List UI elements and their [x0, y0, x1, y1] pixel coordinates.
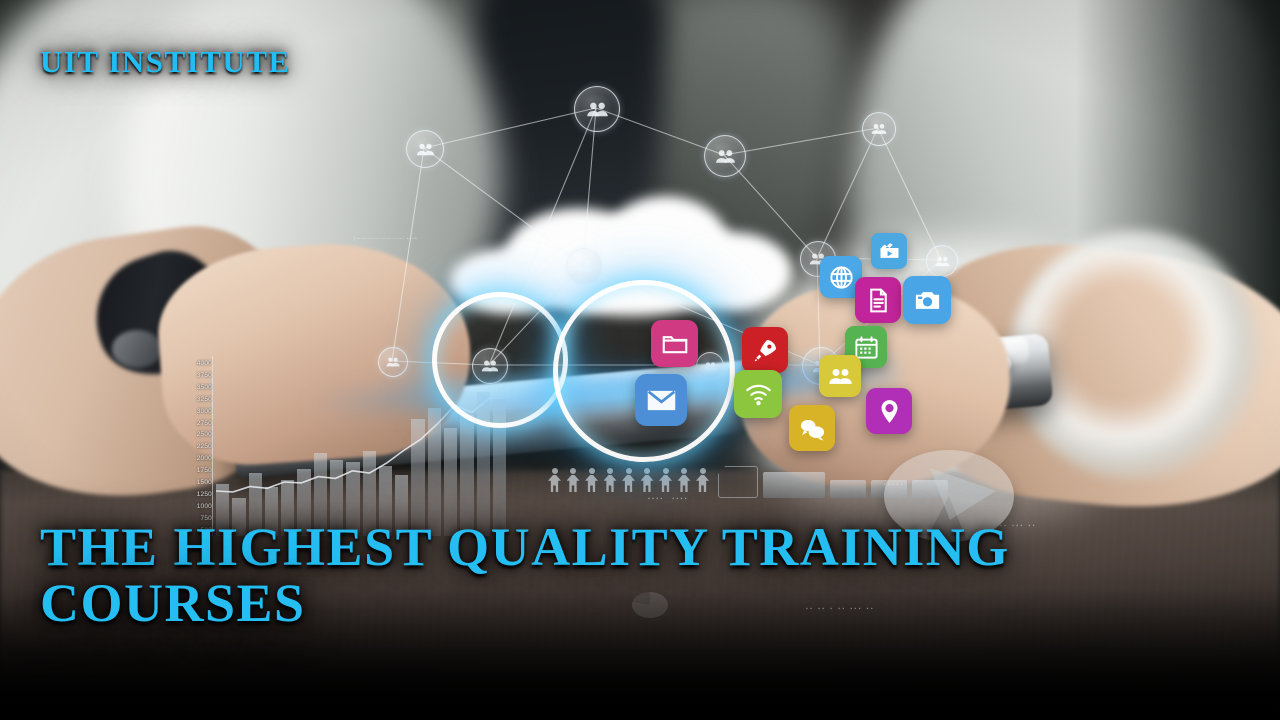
page-title: THE HIGHEST QUALITY TRAINING COURSES	[40, 520, 1180, 631]
poster-canvas: 4000375035003250300027502500225020001750…	[0, 0, 1280, 720]
headline-line-1: THE HIGHEST QUALITY TRAINING	[40, 517, 1010, 577]
brand-logo: UIT INSTITUTE	[40, 44, 291, 80]
headline-line-2: COURSES	[40, 576, 1180, 632]
